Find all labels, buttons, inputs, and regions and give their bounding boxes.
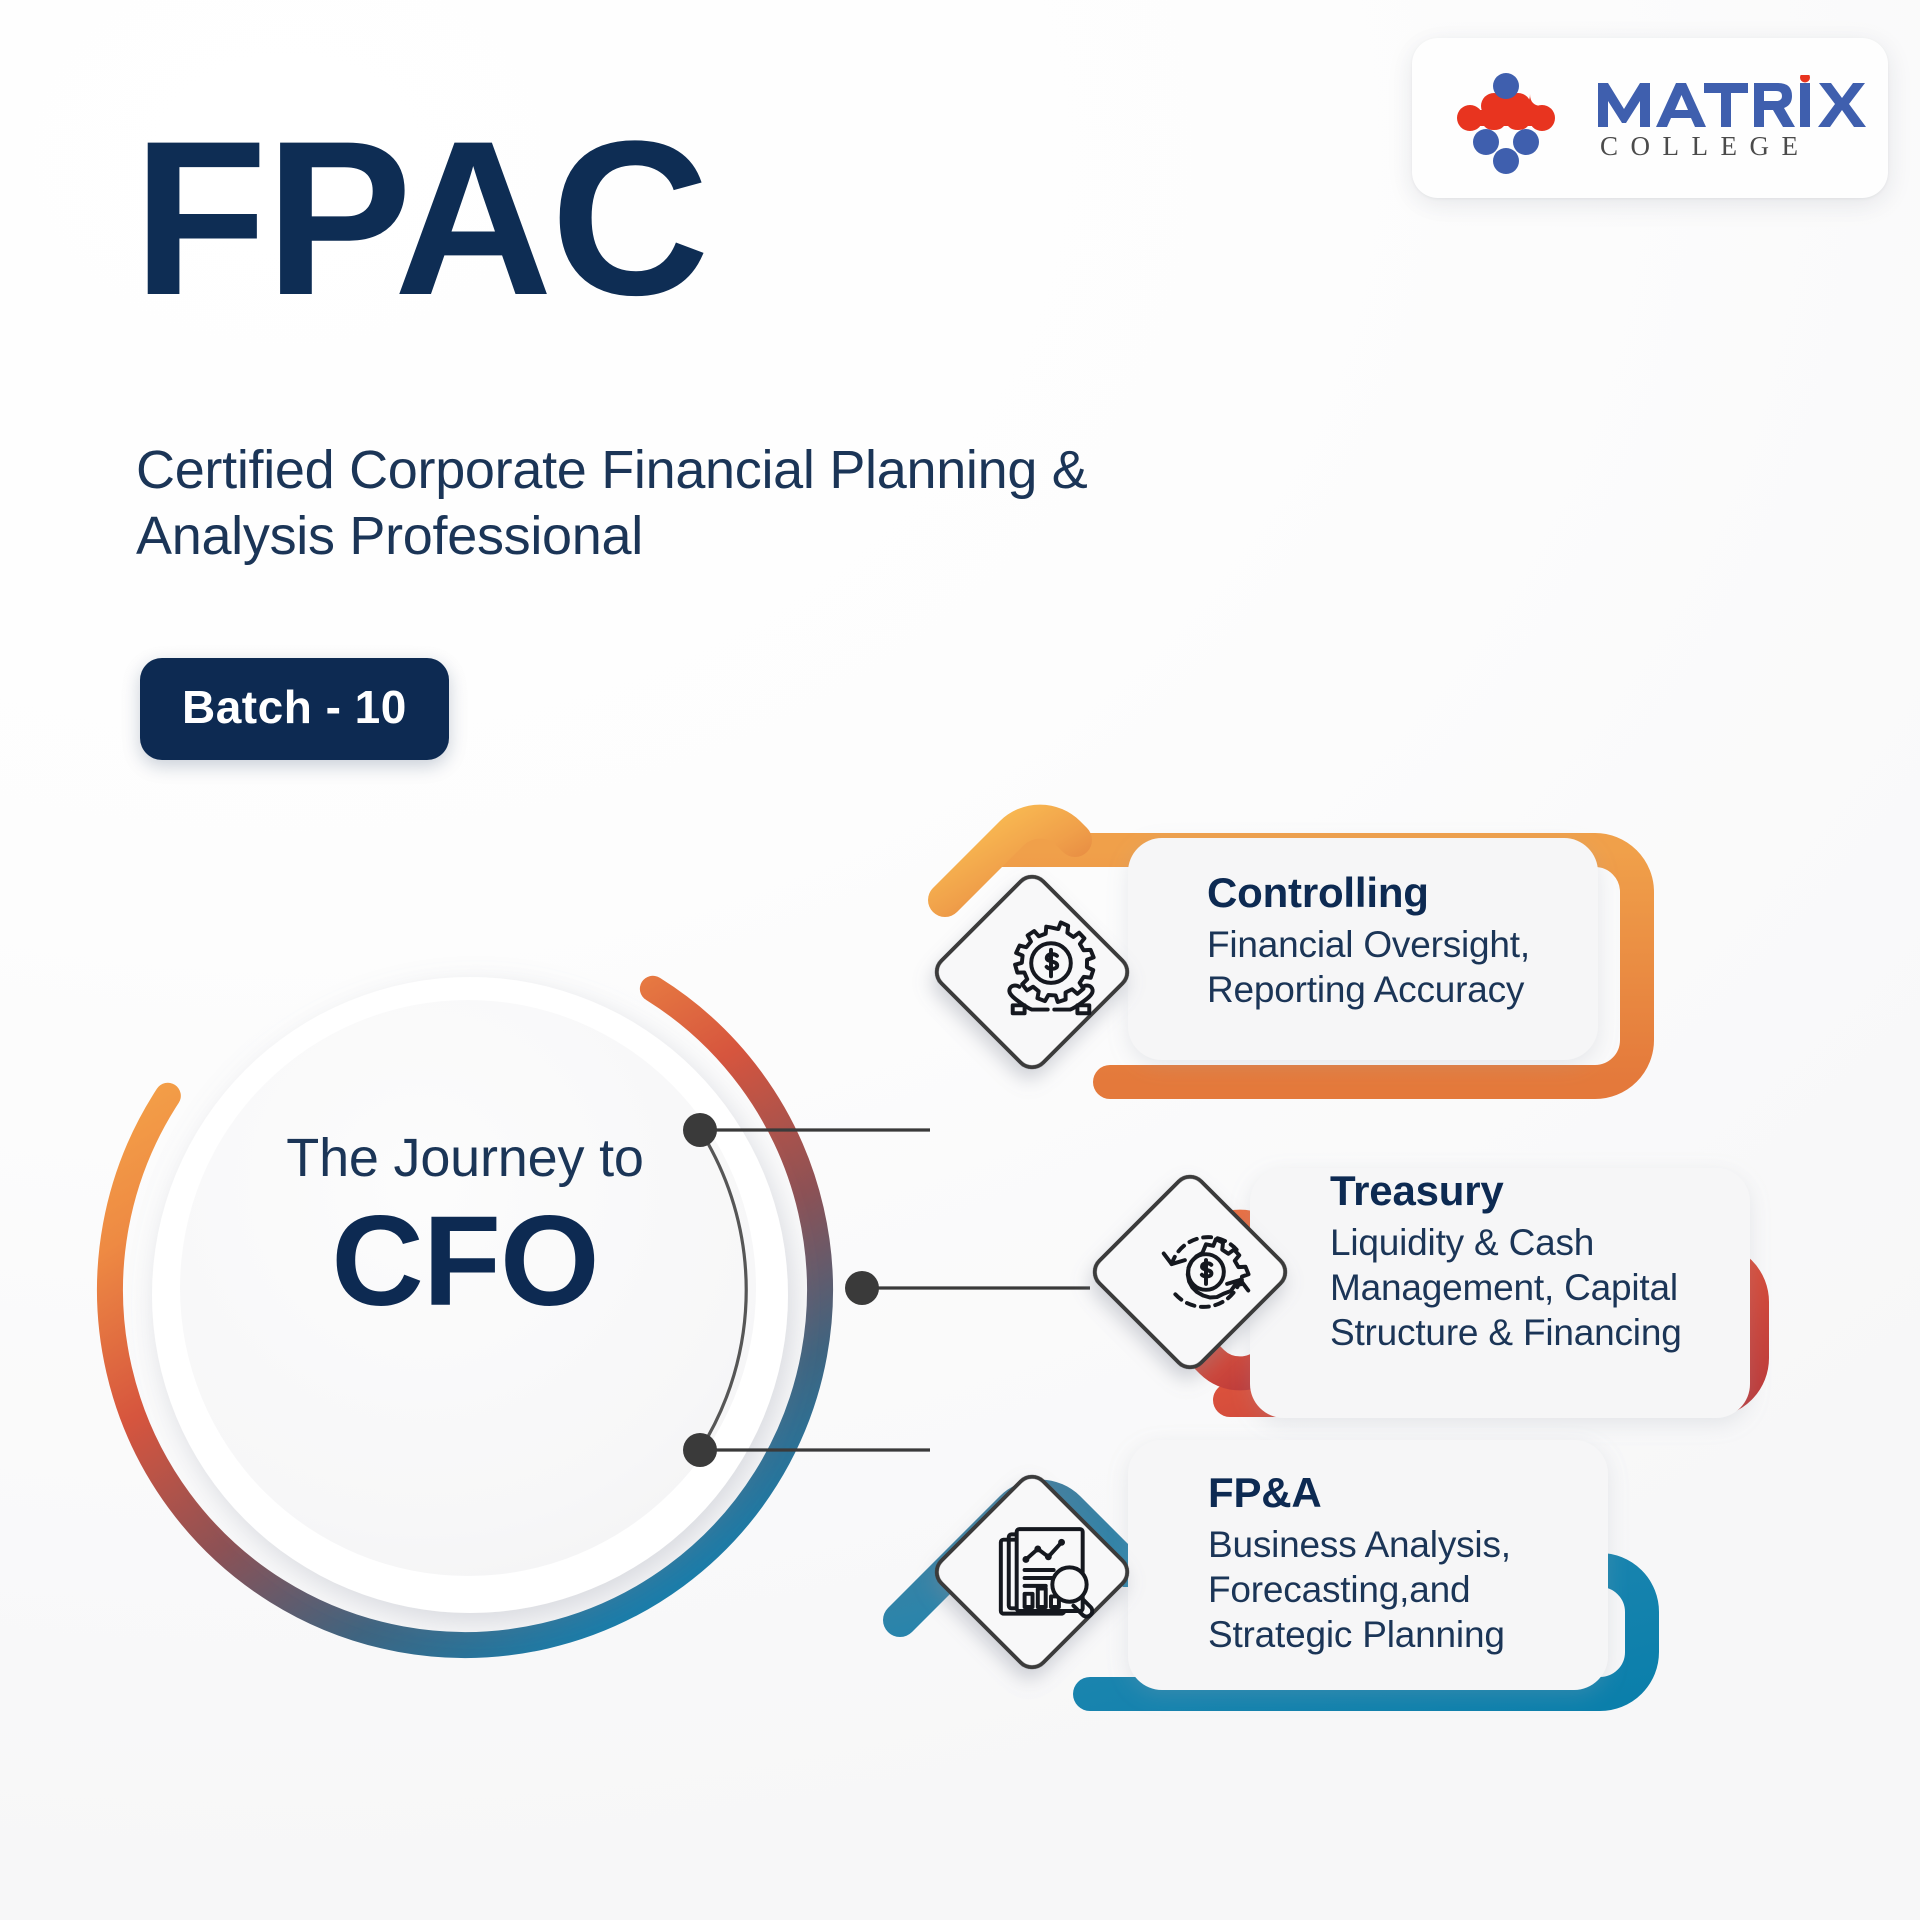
matrix-dots-icon	[1450, 62, 1570, 174]
connector-dot-controlling	[683, 1113, 717, 1147]
fpa-title: FP&A	[1208, 1470, 1608, 1516]
matrix-wordmark	[1596, 75, 1876, 129]
gear-dollar-cycle-icon	[1140, 1206, 1272, 1338]
logo-college-label: COLLEGE	[1596, 131, 1876, 162]
batch-badge: Batch - 10	[140, 658, 449, 760]
pillar-controlling: Controlling Financial Oversight, Reporti…	[1207, 870, 1597, 1012]
page-title: FPAC	[133, 108, 708, 328]
pillar-fpa: FP&A Business Analysis, Forecasting,and …	[1208, 1470, 1608, 1658]
brand-logo: COLLEGE	[1412, 38, 1888, 198]
controlling-desc: Financial Oversight, Reporting Accuracy	[1207, 922, 1597, 1012]
connector-dot-fpa	[683, 1433, 717, 1467]
treasury-title: Treasury	[1330, 1168, 1730, 1214]
controlling-title: Controlling	[1207, 870, 1597, 916]
pillar-treasury: Treasury Liquidity & Cash Management, Ca…	[1330, 1168, 1730, 1356]
fpa-desc: Business Analysis, Forecasting,and Strat…	[1208, 1522, 1608, 1657]
journey-inner-disc	[180, 1000, 756, 1576]
gear-dollar-hands-icon	[985, 905, 1117, 1037]
report-chart-magnifier-icon	[985, 1508, 1117, 1640]
treasury-desc: Liquidity & Cash Management, Capital Str…	[1330, 1220, 1730, 1355]
connector-dot-treasury	[845, 1271, 879, 1305]
page-subtitle: Certified Corporate Financial Planning &…	[136, 438, 1136, 570]
